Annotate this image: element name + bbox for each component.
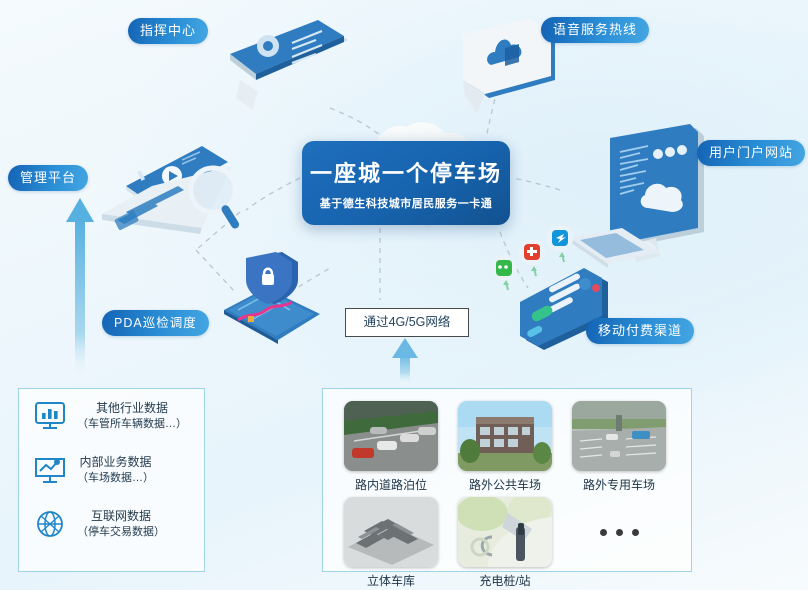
data-source-detail: （车场数据…） bbox=[77, 471, 154, 486]
network-note-box: 通过4G/5G网络 bbox=[345, 308, 469, 337]
scenario-caption: 立体车库 bbox=[339, 572, 443, 589]
ellipsis-more-icon bbox=[567, 497, 671, 567]
scenario-caption: 路外专用车场 bbox=[567, 476, 671, 493]
public-off-street-lot-photo bbox=[458, 401, 552, 471]
scenarios-panel: 路内道路泊位 bbox=[322, 388, 692, 572]
ev-charging-station-photo bbox=[458, 497, 552, 567]
scenario-caption: 路外公共车场 bbox=[453, 476, 557, 493]
scenario-cell-more bbox=[567, 497, 671, 589]
management-platform-laptop-icon bbox=[92, 128, 252, 243]
scenario-caption: 路内道路泊位 bbox=[339, 476, 443, 493]
scenario-cell[interactable]: 路外专用车场 bbox=[567, 401, 671, 493]
label-command-center[interactable]: 指挥中心 bbox=[128, 18, 208, 44]
scenario-cell[interactable]: 立体车库 bbox=[339, 497, 443, 589]
globe-network-icon bbox=[33, 509, 67, 539]
data-source-detail: （车管所车辆数据…） bbox=[77, 417, 187, 432]
multi-storey-garage-photo bbox=[344, 497, 438, 567]
data-source-row[interactable]: 其他行业数据 （车管所车辆数据…） bbox=[19, 389, 204, 443]
label-voice-hotline[interactable]: 语音服务热线 bbox=[541, 17, 649, 43]
data-source-detail: （停车交易数据） bbox=[77, 525, 165, 540]
data-source-row[interactable]: 互联网数据 （停车交易数据） bbox=[19, 497, 204, 551]
pda-shield-map-icon bbox=[216, 252, 328, 348]
architecture-diagram: 一座城一个停车场 基于德生科技城市居民服务一卡通 指挥中心 语音服务热线 用户门… bbox=[0, 0, 808, 590]
data-source-row[interactable]: 内部业务数据 （车场数据…） bbox=[19, 443, 204, 497]
label-mgmt-platform[interactable]: 管理平台 bbox=[8, 165, 88, 191]
label-user-portal[interactable]: 用户门户网站 bbox=[697, 140, 805, 166]
scenario-cell[interactable]: 充电桩/站 bbox=[453, 497, 557, 589]
data-sources-panel: 其他行业数据 （车管所车辆数据…） 内部业务数据 （车场数据…） bbox=[18, 388, 205, 572]
label-mobile-payment[interactable]: 移动付费渠道 bbox=[586, 318, 694, 344]
data-source-title: 其他行业数据 bbox=[77, 400, 187, 416]
scenario-cell[interactable]: 路外公共车场 bbox=[453, 401, 557, 493]
hero-banner: 一座城一个停车场 基于德生科技城市居民服务一卡通 bbox=[302, 141, 510, 225]
monitor-line-chart-icon bbox=[33, 455, 67, 485]
hero-title: 一座城一个停车场 bbox=[310, 156, 502, 188]
data-source-title: 互联网数据 bbox=[77, 508, 165, 524]
command-center-monitor-icon bbox=[222, 18, 352, 128]
data-source-title: 内部业务数据 bbox=[77, 454, 154, 470]
data-to-platform-arrow bbox=[60, 196, 100, 386]
network-uplink-arrow bbox=[388, 338, 422, 386]
on-street-parking-photo bbox=[344, 401, 438, 471]
label-pda-inspection[interactable]: PDA巡检调度 bbox=[102, 310, 209, 336]
hero-subtitle: 基于德生科技城市居民服务一卡通 bbox=[320, 195, 493, 211]
scenario-cell[interactable]: 路内道路泊位 bbox=[339, 401, 443, 493]
scenario-caption: 充电桩/站 bbox=[453, 572, 557, 589]
dedicated-off-street-lot-photo bbox=[572, 401, 666, 471]
monitor-bar-chart-icon bbox=[33, 401, 67, 431]
